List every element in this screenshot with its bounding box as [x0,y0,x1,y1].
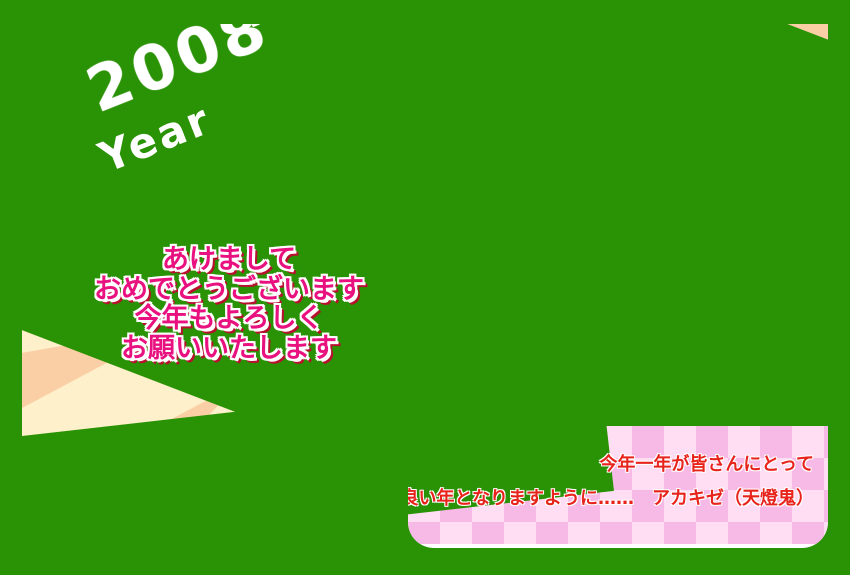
banner-line-1: 今年一年が皆さんにとって [599,450,814,476]
japanese-greeting-block: あけまして おめでとうございます 今年もよろしく お願いいたします [84,246,374,364]
greeting-line-3: 今年もよろしく [84,305,374,334]
new-year-card: 今年一年が皆さんにとって 良い年となりますように…… アカキゼ（天燈鬼） 200… [0,0,850,575]
greeting-line-4: お願いいたします [84,335,374,364]
signature-banner: 今年一年が皆さんにとって 良い年となりますように…… アカキゼ（天燈鬼） [408,426,828,548]
card-art-plate: 今年一年が皆さんにとって 良い年となりますように…… アカキゼ（天燈鬼） 200… [22,24,828,552]
greeting-line-2: おめでとうございます [84,276,374,305]
banner-line-2: 良い年となりますように…… アカキゼ（天燈鬼） [408,484,814,510]
greeting-line-1: あけまして [84,246,374,275]
